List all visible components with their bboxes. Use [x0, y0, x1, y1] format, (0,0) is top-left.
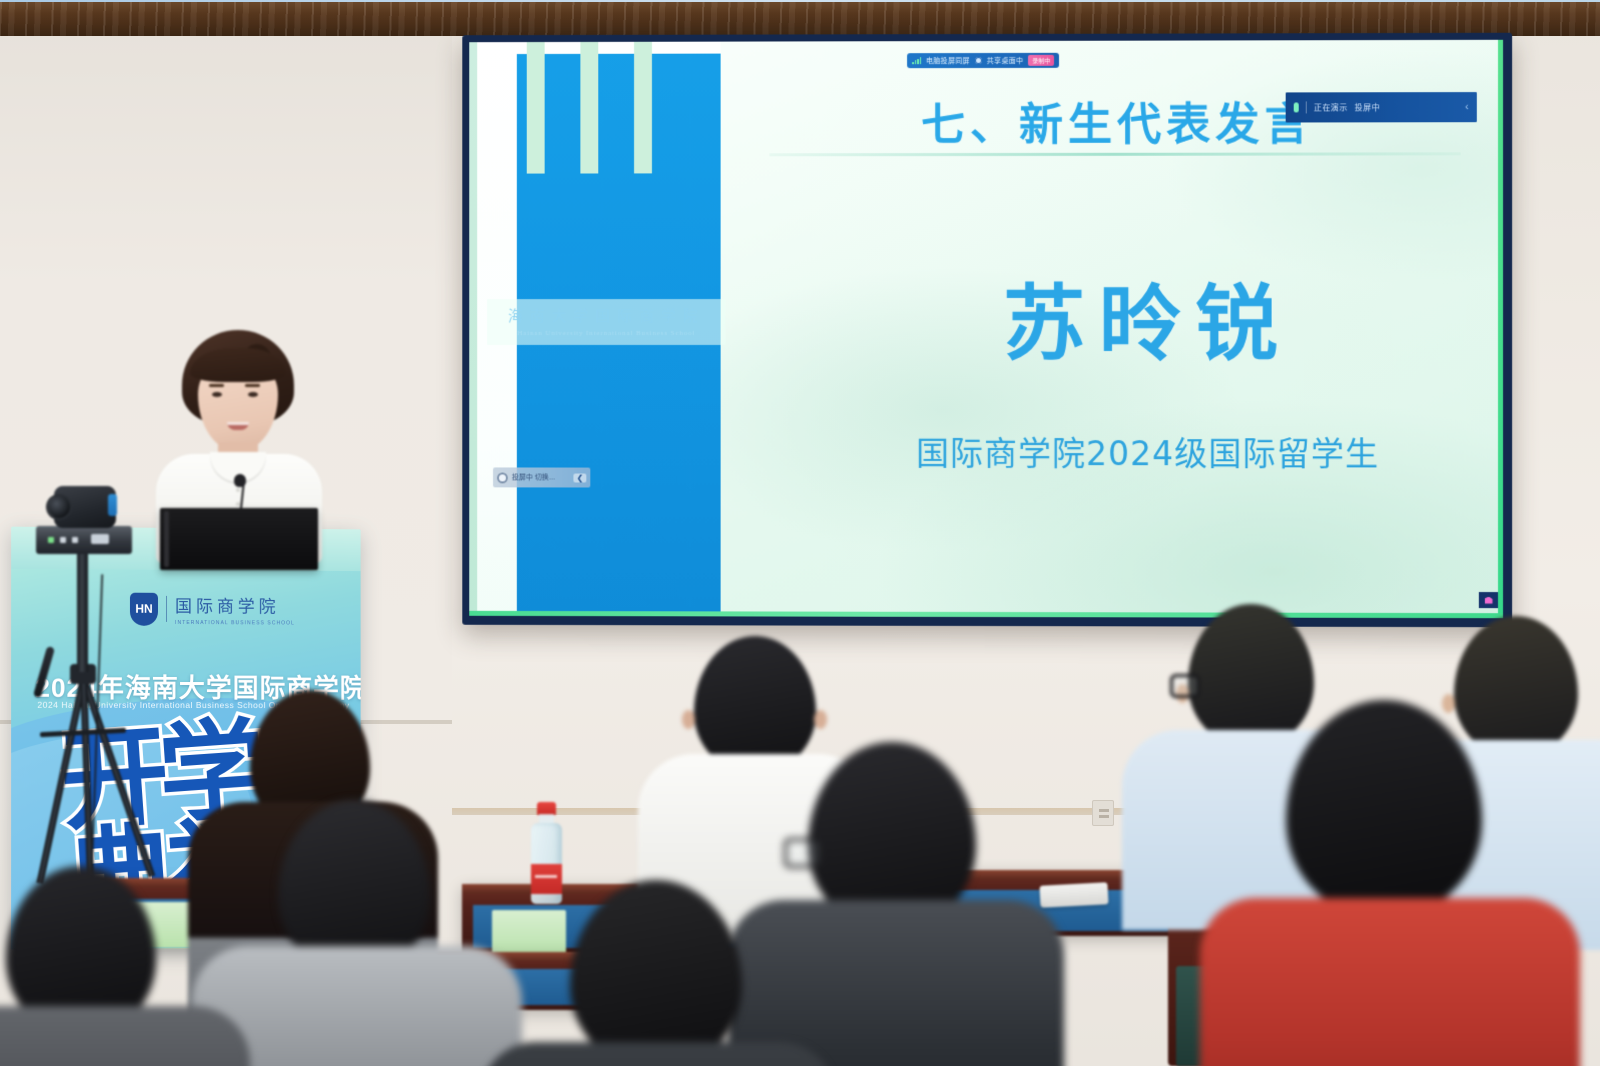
bottle-label	[531, 864, 562, 894]
camera-blue-accent	[108, 494, 117, 516]
shoulders	[1200, 898, 1580, 1066]
slide-band-top-cap	[517, 42, 721, 54]
watermark-english: Hainan University International Business…	[491, 329, 722, 337]
signal-bars-icon	[912, 57, 921, 64]
display-screen: 海南大学国际商学院 Hainan University Internationa…	[469, 40, 1503, 618]
wood-trim-molding	[0, 2, 1600, 36]
slide-edge-right	[1498, 40, 1503, 618]
podium-logo-chinese: 国际商学院	[175, 592, 295, 618]
shoulders	[0, 1006, 250, 1066]
nav-label-1: 正在演示	[1314, 102, 1348, 113]
eyeglasses-icon	[784, 838, 822, 868]
slide-title-underline	[769, 152, 1460, 156]
ear-left	[1442, 694, 1455, 713]
cast-collapse-icon[interactable]: ❮	[574, 473, 587, 482]
camera-tripod-rig	[22, 478, 192, 898]
water-bottle	[529, 802, 563, 904]
camera-lens-icon	[48, 496, 70, 518]
slide-watermark: 海南大学国际商学院 Hainan University Internationa…	[487, 299, 726, 345]
camera-mount-base	[36, 526, 132, 554]
slide-speaker-name: 苏昤锐	[797, 257, 1499, 376]
auditorium-scene: 海南大学国际商学院 Hainan University Internationa…	[0, 0, 1600, 1066]
eyeglasses-icon	[1170, 674, 1200, 698]
microphone-icon	[1294, 102, 1299, 112]
camera-led-power	[48, 537, 54, 543]
slide-notch-3	[634, 42, 652, 174]
corner-badge-glyph	[1484, 597, 1492, 604]
globe-icon	[975, 57, 982, 64]
status-globe-label: 共享桌面中	[987, 56, 1024, 65]
screencast-status-pill[interactable]: 电脑投屏同屏 共享桌面中 录制中	[907, 53, 1059, 68]
slide-edge-left	[469, 42, 477, 616]
slide-speaker-role: 国际商学院2024级国际留学生	[767, 427, 1503, 476]
nav-label-2: 投屏中	[1355, 102, 1380, 113]
podium-mic-head	[234, 474, 246, 487]
presentation-display: 海南大学国际商学院 Hainan University Internationa…	[462, 33, 1512, 627]
ear-left	[682, 710, 695, 729]
cast-dot-icon	[497, 472, 508, 483]
camera-led-2	[72, 537, 78, 543]
status-signal-label: 电脑投屏同屏	[926, 56, 970, 65]
smartphone-on-desk	[1039, 882, 1108, 908]
desk-notepad-1	[492, 910, 566, 956]
slide-canvas: 海南大学国际商学院 Hainan University Internationa…	[469, 40, 1503, 618]
camera-led-1	[60, 537, 66, 543]
tripod-leg-right	[36, 677, 87, 884]
presentation-nav-bar[interactable]: 正在演示 投屏中 ‹	[1286, 92, 1477, 122]
tripod-pan-handle	[33, 646, 55, 698]
slide-notch-1	[527, 42, 545, 174]
podium-logo-english: INTERNATIONAL BUSINESS SCHOOL	[175, 620, 295, 627]
floating-cast-control[interactable]: 投屏中 切换… ❮	[493, 467, 590, 487]
presenter-eyebrow-left	[209, 384, 224, 387]
presenter-eyebrow-right	[245, 384, 260, 387]
recording-badge: 录制中	[1028, 55, 1054, 66]
nav-divider	[1306, 101, 1307, 113]
watermark-chinese: 海南大学国际商学院	[491, 305, 722, 326]
slide-corner-badge	[1479, 592, 1498, 608]
presenter-button-1	[236, 488, 240, 492]
cast-control-label: 投屏中 切换…	[512, 472, 556, 482]
shoulders	[480, 1042, 836, 1066]
slide-edge-bottom	[469, 611, 1503, 618]
slide-notch-2	[580, 42, 598, 174]
tripod-column	[77, 552, 88, 672]
presenter-eye-right	[248, 392, 258, 397]
wall-socket	[1092, 800, 1114, 826]
chevron-left-icon[interactable]: ‹	[1465, 101, 1469, 113]
presenter-eye-left	[212, 392, 222, 397]
ear-right	[814, 710, 827, 729]
